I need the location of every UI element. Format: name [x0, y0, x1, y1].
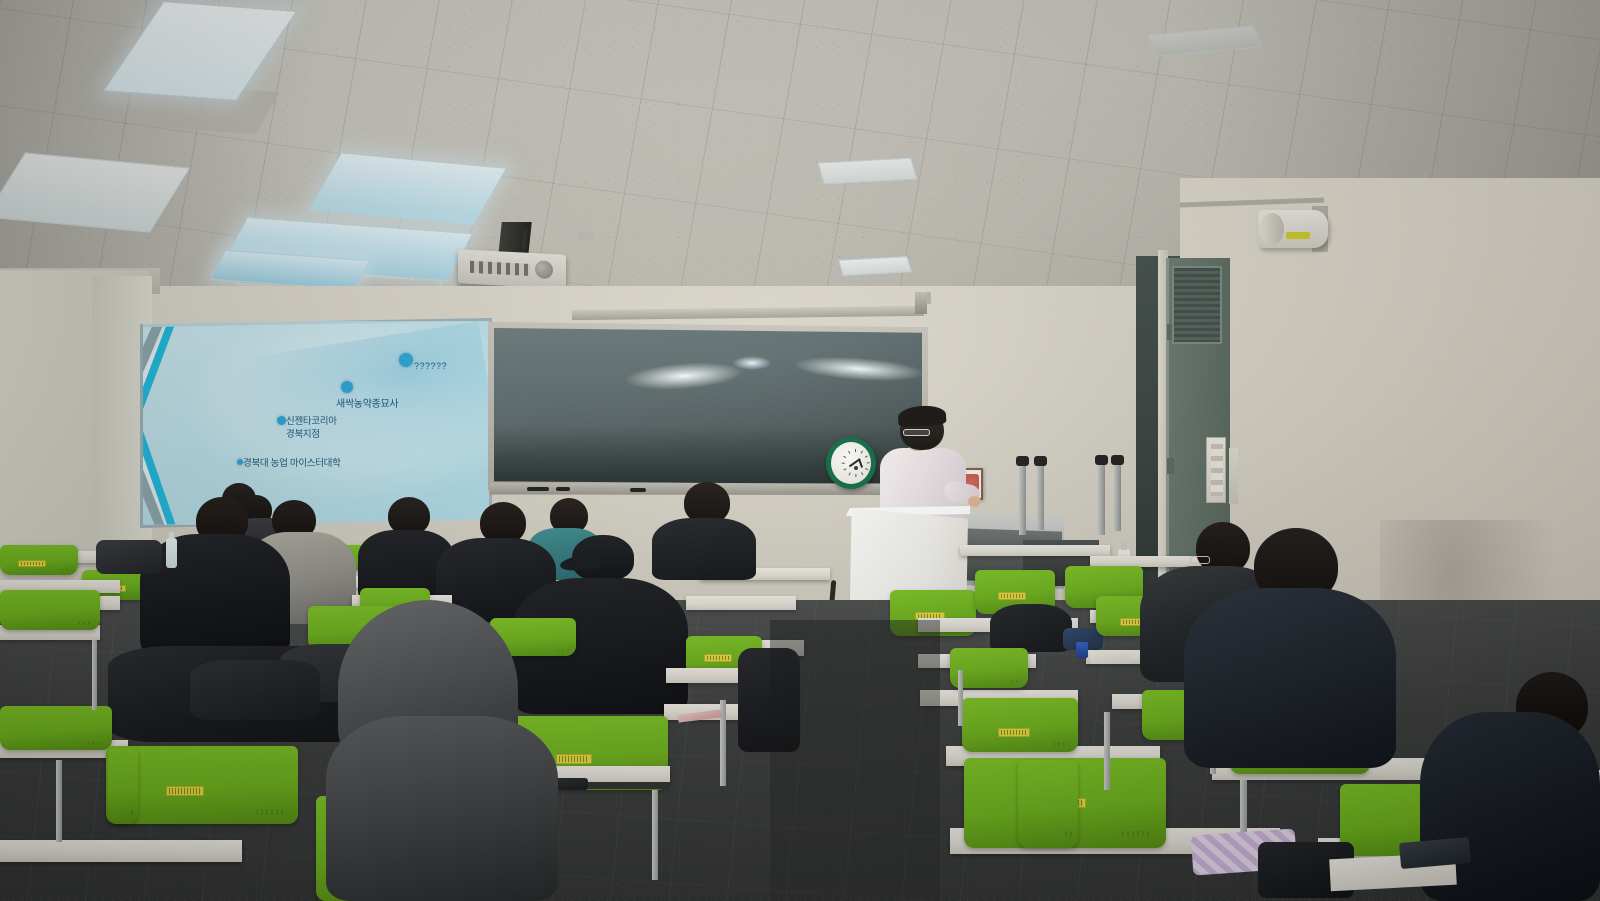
desk-leg — [958, 670, 963, 726]
door-window — [1172, 266, 1222, 344]
wall-bracket — [915, 292, 927, 314]
classroom-photo: 경북대 농업 마이스터대학 신젠타코리아 경북지점 새싹농약종묘사 ?????? — [0, 0, 1600, 901]
clock-tick — [865, 455, 868, 458]
whiteboard-marker[interactable] — [630, 488, 646, 492]
wall-control-plate[interactable] — [1229, 448, 1238, 504]
pole-cap — [1095, 455, 1108, 465]
backpack — [190, 660, 320, 720]
ceiling-projector — [458, 249, 566, 289]
student-torso — [140, 534, 290, 656]
whiteboard-marker[interactable] — [556, 487, 570, 491]
student-torso — [326, 716, 558, 901]
papers — [1090, 652, 1130, 664]
student-torso — [1184, 588, 1396, 768]
door-hinge — [1167, 458, 1174, 474]
slide-node-label-1a: 신젠타코리아 — [286, 413, 337, 427]
clock-center-pin — [854, 466, 858, 470]
chair[interactable] — [0, 706, 112, 750]
desk-leg — [652, 790, 658, 880]
chair-asset-tag — [998, 728, 1030, 737]
clock-tick — [842, 462, 845, 463]
chair-asset-tag — [998, 592, 1026, 600]
clock-tick — [855, 474, 856, 477]
slide-node-label-2: 새싹농약종묘사 — [336, 395, 398, 410]
whiteboard-glare — [623, 359, 745, 393]
clock-tick — [865, 468, 868, 471]
backpack — [96, 540, 162, 574]
clock-tick — [861, 451, 864, 454]
glasses-icon — [1190, 556, 1210, 564]
clock-tick — [848, 451, 851, 454]
desk — [960, 545, 1110, 556]
cart-pole — [1098, 459, 1105, 535]
clock-tick — [867, 462, 870, 463]
pa-speaker-icon — [1258, 210, 1328, 248]
presenter-glasses-icon — [903, 429, 930, 436]
desk-leg — [92, 640, 97, 710]
chair[interactable] — [0, 590, 100, 630]
slide-node-marker — [399, 353, 413, 367]
clock-tick — [843, 468, 846, 471]
projector-lens-icon — [535, 260, 553, 279]
desk — [686, 596, 796, 610]
slide-node-label-3: ?????? — [414, 361, 447, 371]
chair-asset-tag — [704, 654, 732, 662]
slide-node-label-1b: 경북지점 — [286, 426, 320, 440]
slide-swoosh — [192, 321, 489, 505]
chair-asset-tag — [18, 560, 46, 567]
wall-clock — [826, 437, 876, 489]
backpack — [738, 648, 800, 752]
chair-asset-tag — [166, 786, 204, 796]
speaker-cone — [1260, 213, 1284, 245]
speaker-asset-tag — [1286, 232, 1310, 239]
desk — [0, 840, 242, 862]
chair[interactable] — [962, 698, 1078, 752]
chair[interactable] — [108, 748, 138, 824]
slide-node-marker — [277, 416, 286, 425]
chair-asset-tag — [556, 754, 592, 764]
clock-face — [831, 442, 871, 484]
student-torso — [652, 518, 756, 580]
desk-leg — [56, 760, 62, 842]
pole-cap — [1034, 456, 1047, 466]
whiteboard-marker[interactable] — [527, 487, 549, 491]
clock-tick — [843, 455, 846, 458]
chair[interactable] — [1018, 760, 1078, 848]
cart-pole — [1037, 460, 1044, 530]
clock-tick — [861, 472, 864, 475]
whiteboard-glare — [793, 353, 922, 384]
sprinkler-head-icon — [578, 232, 594, 241]
desk-leg — [1104, 712, 1110, 790]
pole-cap — [1016, 456, 1029, 466]
blue-item — [1076, 642, 1088, 658]
projector-ports — [470, 261, 530, 276]
water-bottle[interactable] — [166, 538, 177, 568]
light-switch-panel[interactable] — [1206, 437, 1226, 503]
cart-pole — [1019, 460, 1026, 535]
presenter-hand — [968, 496, 981, 507]
cart-pole — [1114, 459, 1121, 531]
projection-screen: 경북대 농업 마이스터대학 신젠타코리아 경북지점 새싹농약종묘사 ?????? — [143, 321, 489, 525]
clock-tick — [848, 472, 851, 475]
whiteboard-hotspot — [732, 356, 772, 370]
pole-cap — [1111, 455, 1124, 465]
slide-node-marker — [341, 381, 353, 393]
clock-tick — [855, 449, 856, 452]
slide-node-label-0: 경북대 농업 마이스터대학 — [243, 455, 341, 469]
draped-jacket — [990, 604, 1072, 652]
